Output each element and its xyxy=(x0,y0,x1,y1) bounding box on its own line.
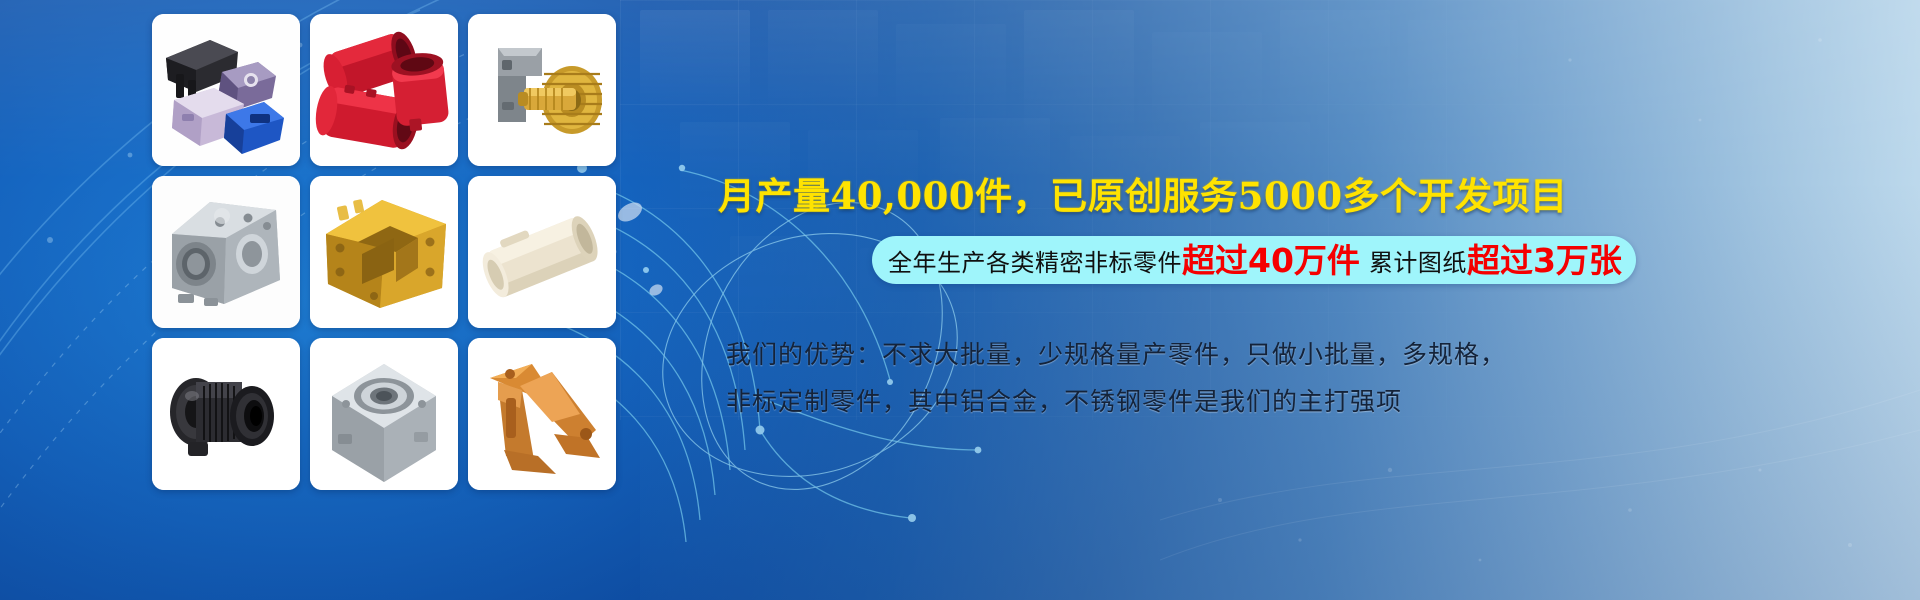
stainless-cube-manifold-block-image xyxy=(310,338,458,490)
brass-worm-gear-shaft-assembly-image xyxy=(468,14,616,166)
decorative-dots-right xyxy=(1160,0,1920,600)
white-nylon-tube-fitting-image xyxy=(468,176,616,328)
stats-pill: 全年生产各类精密非标零件 超过40万件 累计图纸 超过3万张 xyxy=(872,236,1636,284)
product-tile-black-knurled-hub-nozzle[interactable] xyxy=(152,338,300,490)
product-tile-aluminum-gearbox-housing[interactable] xyxy=(152,176,300,328)
copper-bronze-support-arm-image xyxy=(468,338,616,490)
body-copy-line-2: 非标定制零件，其中铝合金，不锈钢零件是我们的主打强项 xyxy=(726,379,1636,426)
gold-anodized-frame-plate-image xyxy=(310,176,458,328)
pill-mid-text: 累计图纸 xyxy=(1369,243,1467,278)
pill-highlight-output: 超过40万件 xyxy=(1182,244,1360,277)
headline-text: 月产量40,000件，已原创服务5000多个开发项目 xyxy=(718,166,1568,220)
product-tile-copper-bronze-support-arm[interactable] xyxy=(468,338,616,490)
product-tile-white-nylon-tube-fitting[interactable] xyxy=(468,176,616,328)
body-copy-line-1: 我们的优势：不求大批量，少规格量产零件，只做小批量，多规格， xyxy=(726,332,1636,379)
product-tile-machined-brackets-black-purple-blue[interactable] xyxy=(152,14,300,166)
product-tile-brass-worm-gear-shaft-assembly[interactable] xyxy=(468,14,616,166)
product-photo-grid xyxy=(152,14,616,484)
black-knurled-hub-nozzle-image xyxy=(152,338,300,490)
pill-highlight-drawings: 超过3万张 xyxy=(1467,244,1622,277)
product-tile-stainless-cube-manifold-block[interactable] xyxy=(310,338,458,490)
product-tile-gold-anodized-frame-plate[interactable] xyxy=(310,176,458,328)
body-copy: 我们的优势：不求大批量，少规格量产零件，只做小批量，多规格， 非标定制零件，其中… xyxy=(726,332,1636,426)
machined-brackets-black-purple-blue-image xyxy=(152,14,300,166)
aluminum-gearbox-housing-image xyxy=(152,176,300,328)
product-tile-red-anodized-cylinder-housings[interactable] xyxy=(310,14,458,166)
red-anodized-cylinder-housings-image xyxy=(310,14,458,166)
pill-lead-text: 全年生产各类精密非标零件 xyxy=(888,243,1182,278)
promo-banner: 月产量40,000件，已原创服务5000多个开发项目 全年生产各类精密非标零件 … xyxy=(0,0,1920,600)
